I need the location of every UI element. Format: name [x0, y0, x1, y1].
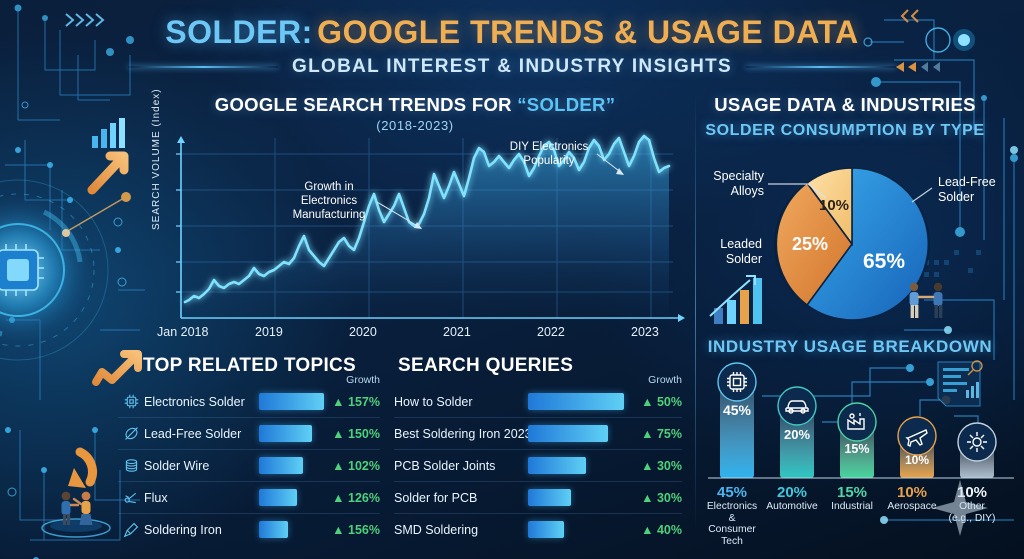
x-tick-5: 2023	[631, 325, 659, 339]
pie-label-specialty-2: Alloys	[731, 184, 764, 198]
industry-inbar-pct-0: 45%	[723, 402, 752, 418]
lead-free-icon	[118, 425, 144, 442]
query-bar	[528, 489, 571, 506]
svg-text:Popularity: Popularity	[523, 155, 574, 167]
query-bar-track	[528, 457, 624, 474]
y-axis-label: SEARCH VOLUME (Index)	[151, 88, 162, 230]
bar-chart-icon	[92, 118, 125, 148]
pie-heading: SOLDER CONSUMPTION BY TYPE	[700, 122, 990, 140]
pie-value-leaded: 25%	[792, 234, 828, 254]
query-growth: ▲ 75%	[624, 427, 682, 441]
usage-heading-text: USAGE DATA & INDUSTRIES	[714, 94, 975, 115]
query-bar	[528, 457, 586, 474]
title-part1: SOLDER:	[165, 14, 313, 50]
topic-growth: ▲ 157%	[324, 395, 380, 409]
query-label: Solder for PCB	[394, 491, 528, 505]
industry-label-group: 45% Electronics & Consumer Tech	[702, 484, 762, 547]
pie-value-lead-free: 65%	[863, 250, 905, 273]
topic-growth: ▲ 156%	[324, 523, 380, 537]
industry-name-1: Automotive	[762, 501, 822, 513]
queries-heading: SEARCH QUERIES	[398, 355, 573, 377]
title-part2: GOOGLE TRENDS & USAGE DATA	[317, 14, 859, 50]
query-bar	[528, 425, 608, 442]
topic-growth: ▲ 150%	[324, 427, 380, 441]
x-tick-4: 2022	[537, 325, 565, 339]
refresh-arrow-icon	[68, 452, 92, 488]
growth-arrow-icon-2	[96, 354, 138, 382]
topic-bar-track	[259, 521, 324, 538]
svg-text:Manufacturing: Manufacturing	[293, 209, 366, 221]
industry-inbar-pct-1: 20%	[784, 427, 810, 442]
topic-label: Soldering Iron	[144, 523, 259, 537]
pie-label-leaded-1: Leaded	[720, 237, 762, 251]
industry-name-2: Industrial	[822, 501, 882, 513]
topic-label: Electronics Solder	[144, 395, 259, 409]
x-tick-2: 2020	[349, 325, 377, 339]
industry-inbar-pct-2: 15%	[844, 442, 869, 456]
line-chart-heading-prefix: GOOGLE SEARCH TRENDS FOR	[215, 94, 518, 115]
subtitle-rule-left	[128, 66, 278, 68]
pie-label-lead-free-1: Lead-Free	[938, 175, 996, 189]
line-chart-heading-accent: “SOLDER”	[517, 94, 615, 115]
topic-bar-track	[259, 393, 324, 410]
soldering-iron-icon	[118, 521, 144, 538]
industry-heading: INDUSTRY USAGE BREAKDOWN	[700, 337, 1000, 357]
query-bar-track	[528, 393, 624, 410]
list-item[interactable]: How to Solder ▲ 50%	[394, 386, 682, 418]
list-item[interactable]: SMD Soldering ▲ 40%	[394, 514, 682, 545]
x-tick-1: 2019	[255, 325, 283, 339]
list-item[interactable]: Flux ▲ 126%	[118, 482, 380, 514]
header-subtitle-row: GLOBAL INTEREST & INDUSTRY INSIGHTS	[0, 56, 1024, 78]
topic-label: Solder Wire	[144, 459, 259, 473]
pie-heading-text: SOLDER CONSUMPTION BY TYPE	[705, 122, 984, 139]
section-divider	[695, 92, 696, 532]
topics-growth-header: Growth	[318, 374, 380, 386]
svg-text:Electronics: Electronics	[301, 195, 357, 207]
svg-text:Growth in: Growth in	[304, 181, 353, 193]
pie-label-lead-free-2: Solder	[938, 190, 974, 204]
list-item[interactable]: Solder Wire ▲ 102%	[118, 450, 380, 482]
mini-bar-chart-icon	[710, 276, 762, 324]
topic-growth: ▲ 126%	[324, 491, 380, 505]
topic-bar	[259, 425, 312, 442]
subtitle-rule-right	[746, 66, 896, 68]
queries-growth-header: Growth	[620, 374, 682, 386]
svg-text:DIY Electronics: DIY Electronics	[510, 141, 589, 153]
query-bar-track	[528, 489, 624, 506]
industry-name-0: Electronics & Consumer Tech	[702, 501, 762, 547]
topic-growth: ▲ 102%	[324, 459, 380, 473]
list-item[interactable]: Electronics Solder ▲ 157%	[118, 386, 380, 418]
list-item[interactable]: Soldering Iron ▲ 156%	[118, 514, 380, 545]
usage-heading: USAGE DATA & INDUSTRIES	[700, 94, 990, 116]
query-bar	[528, 521, 564, 538]
topic-bar	[259, 521, 288, 538]
chip-icon	[118, 393, 144, 410]
line-chart-heading: GOOGLE SEARCH TRENDS FOR “SOLDER”	[150, 94, 680, 116]
pie-label-leaded-2: Solder	[726, 252, 762, 266]
topic-bar	[259, 393, 324, 410]
wire-spool-icon	[118, 457, 144, 474]
list-item[interactable]: Best Soldering Iron 2023 ▲ 75%	[394, 418, 682, 450]
list-item[interactable]: PCB Solder Joints ▲ 30%	[394, 450, 682, 482]
header-title: SOLDER: GOOGLE TRENDS & USAGE DATA	[0, 14, 1024, 51]
query-label: How to Solder	[394, 395, 528, 409]
x-tick-3: 2021	[443, 325, 471, 339]
query-label: PCB Solder Joints	[394, 459, 528, 473]
query-label: SMD Soldering	[394, 523, 528, 537]
industry-inbar-pct-3: 10%	[905, 453, 929, 467]
pie-chart: 65% 25% 10% Specialty Alloys Leaded Sold…	[700, 140, 1000, 335]
infographic-root: SOLDER: GOOGLE TRENDS & USAGE DATA GLOBA…	[0, 0, 1024, 559]
query-bar-track	[528, 425, 624, 442]
query-growth: ▲ 40%	[624, 523, 682, 537]
header-subtitle: GLOBAL INTEREST & INDUSTRY INSIGHTS	[292, 56, 732, 78]
query-bar	[528, 393, 624, 410]
industry-label-group: 20% Automotive	[762, 484, 822, 547]
query-growth: ▲ 50%	[624, 395, 682, 409]
line-chart-range: (2018-2023)	[150, 118, 680, 133]
x-tick-0: Jan 2018	[157, 325, 208, 339]
line-chart: SEARCH VOLUME (Index) Jan 2018 2019 2020…	[145, 132, 690, 342]
list-item[interactable]: Lead-Free Solder ▲ 150%	[118, 418, 380, 450]
industry-label-group: 15% Industrial	[822, 484, 882, 547]
topics-list: Electronics Solder ▲ 157% Lead-Free Sold…	[118, 386, 380, 545]
industry-pct-2: 15%	[822, 484, 882, 501]
flux-icon	[118, 489, 144, 506]
query-growth: ▲ 30%	[624, 491, 682, 505]
topic-bar	[259, 457, 303, 474]
industry-pct-1: 20%	[762, 484, 822, 501]
topic-label: Lead-Free Solder	[144, 427, 259, 441]
people-illustration	[42, 492, 110, 537]
people-handshake-illustration	[910, 283, 943, 318]
query-bar-track	[528, 521, 624, 538]
pie-value-specialty: 10%	[819, 197, 849, 214]
pie-label-specialty-1: Specialty	[713, 169, 764, 183]
topic-bar-track	[259, 457, 324, 474]
growth-arrow-icon	[92, 156, 124, 190]
list-item[interactable]: Solder for PCB ▲ 30%	[394, 482, 682, 514]
query-label: Best Soldering Iron 2023	[394, 427, 528, 441]
queries-list: How to Solder ▲ 50% Best Soldering Iron …	[394, 386, 682, 545]
topic-bar-track	[259, 489, 324, 506]
topic-label: Flux	[144, 491, 259, 505]
sparkle-icon	[930, 478, 990, 538]
topic-bar-track	[259, 425, 324, 442]
industry-heading-text: INDUSTRY USAGE BREAKDOWN	[708, 337, 993, 356]
query-growth: ▲ 30%	[624, 459, 682, 473]
topic-bar	[259, 489, 297, 506]
industry-pct-0: 45%	[702, 484, 762, 501]
